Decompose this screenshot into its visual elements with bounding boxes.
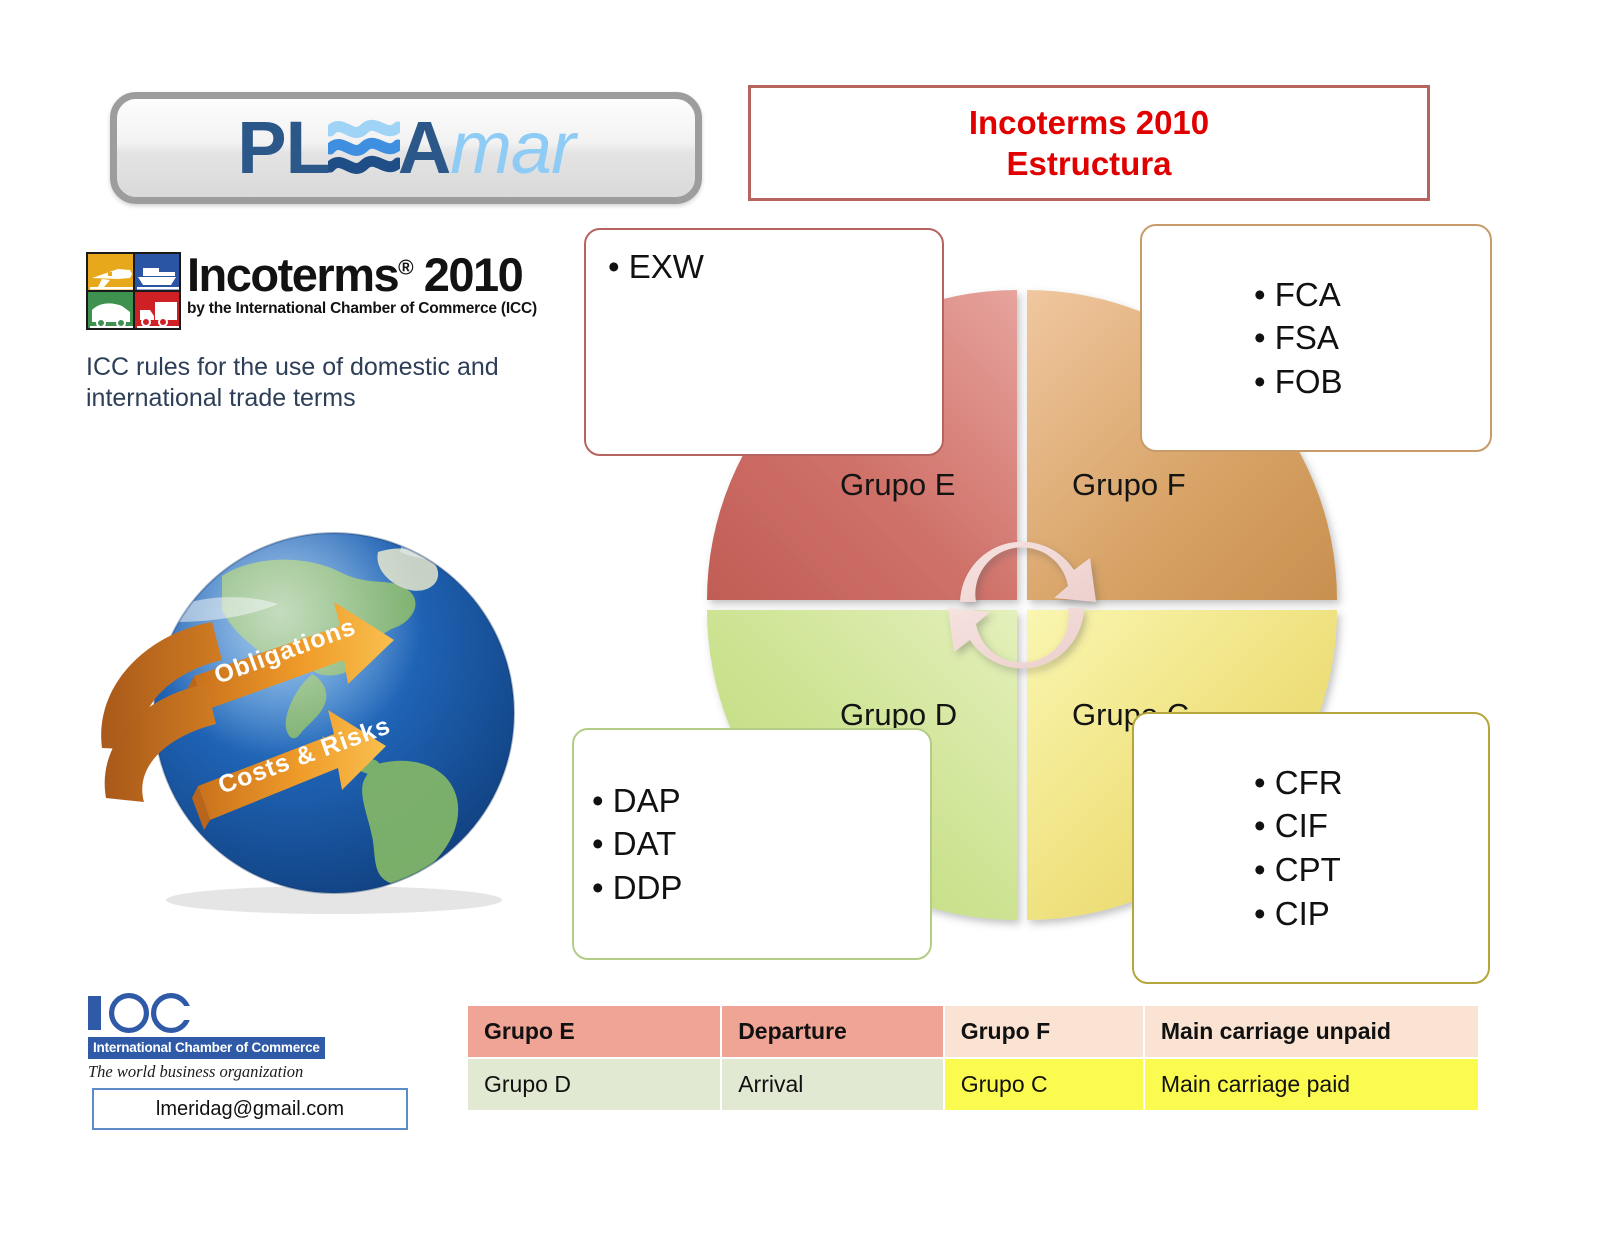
callout-grupo-d: DAP DAT DDP [572, 728, 932, 960]
incoterms-logo: Incoterms® 2010 by the International Cha… [86, 252, 586, 413]
list-item: CFR [1254, 761, 1488, 805]
incoterms-summary-table: Grupo E Departure Grupo F Main carriage … [466, 1004, 1480, 1112]
list-item: CIP [1254, 892, 1488, 936]
list-item: DAT [592, 822, 930, 866]
list-item: FOB [1254, 360, 1490, 404]
callout-grupo-c-list: CFR CIF CPT CIP [1134, 761, 1488, 935]
contact-email-box[interactable]: lmeridag@gmail.com [92, 1088, 408, 1130]
table-row: Grupo D Arrival Grupo C Main carriage pa… [468, 1059, 1478, 1110]
incoterms-transport-icons [86, 252, 181, 330]
pleamar-logo-pl: PL [237, 111, 330, 185]
pie-label-grupo-f: Grupo F [1072, 467, 1186, 503]
callout-grupo-f: FCA FSA FOB [1140, 224, 1492, 452]
train-icon [88, 292, 133, 328]
incoterms-name: Incoterms [187, 248, 398, 301]
slide-canvas: PL A mar Incoterms 2010 Estructura [0, 0, 1600, 1236]
list-item: CPT [1254, 848, 1488, 892]
table-cell-arrival: Arrival [722, 1059, 943, 1110]
list-item: DDP [592, 866, 930, 910]
incoterms-rules-line1: ICC rules for the use of domestic and [86, 352, 586, 383]
table-row: Grupo E Departure Grupo F Main carriage … [468, 1006, 1478, 1057]
pleamar-logo: PL A mar [110, 92, 702, 204]
icc-banner: International Chamber of Commerce [88, 1037, 325, 1059]
callout-grupo-c: CFR CIF CPT CIP [1132, 712, 1490, 984]
wave-icon [328, 111, 400, 185]
incoterms-year: 2010 [424, 248, 523, 301]
globe-graphic: Obligations Costs & Risks [72, 498, 592, 918]
page-title: Incoterms 2010 Estructura [748, 85, 1430, 201]
pleamar-logo-mar: mar [450, 111, 574, 185]
table-cell-grupo-e: Grupo E [468, 1006, 720, 1057]
list-item: EXW [608, 245, 704, 289]
list-item: FSA [1254, 316, 1490, 360]
page-title-line2: Estructura [1006, 143, 1171, 184]
table-cell-departure: Departure [722, 1006, 943, 1057]
icc-logo: International Chamber of Commerce The wo… [88, 992, 388, 1082]
truck-icon [135, 292, 180, 328]
incoterms-rules-line2: international trade terms [86, 383, 586, 414]
callout-grupo-d-list: DAP DAT DDP [574, 779, 930, 910]
table-cell-grupo-c: Grupo C [945, 1059, 1143, 1110]
callout-grupo-e: EXW [584, 228, 944, 456]
pie-label-grupo-e: Grupo E [840, 467, 955, 503]
registered-mark: ® [398, 256, 412, 279]
ship-icon [135, 254, 180, 290]
pleamar-logo-a: A [398, 111, 450, 185]
icc-banner-text: International Chamber of Commerce [93, 1040, 320, 1055]
table-cell-grupo-f: Grupo F [945, 1006, 1143, 1057]
list-item: FCA [1254, 273, 1490, 317]
icc-tagline: The world business organization [88, 1062, 388, 1082]
page-title-line1: Incoterms 2010 [969, 102, 1209, 143]
contact-email-text: lmeridag@gmail.com [156, 1098, 344, 1121]
callout-grupo-f-list: FCA FSA FOB [1142, 273, 1490, 404]
table-cell-main-carriage-paid: Main carriage paid [1145, 1059, 1478, 1110]
callout-grupo-e-list: EXW [586, 245, 704, 289]
table-cell-grupo-d: Grupo D [468, 1059, 720, 1110]
incoterms-byline: by the International Chamber of Commerce… [187, 300, 537, 318]
plane-icon [88, 254, 133, 290]
list-item: DAP [592, 779, 930, 823]
list-item: CIF [1254, 804, 1488, 848]
icc-globe-icon [88, 992, 388, 1034]
table-cell-main-carriage-unpaid: Main carriage unpaid [1145, 1006, 1478, 1057]
